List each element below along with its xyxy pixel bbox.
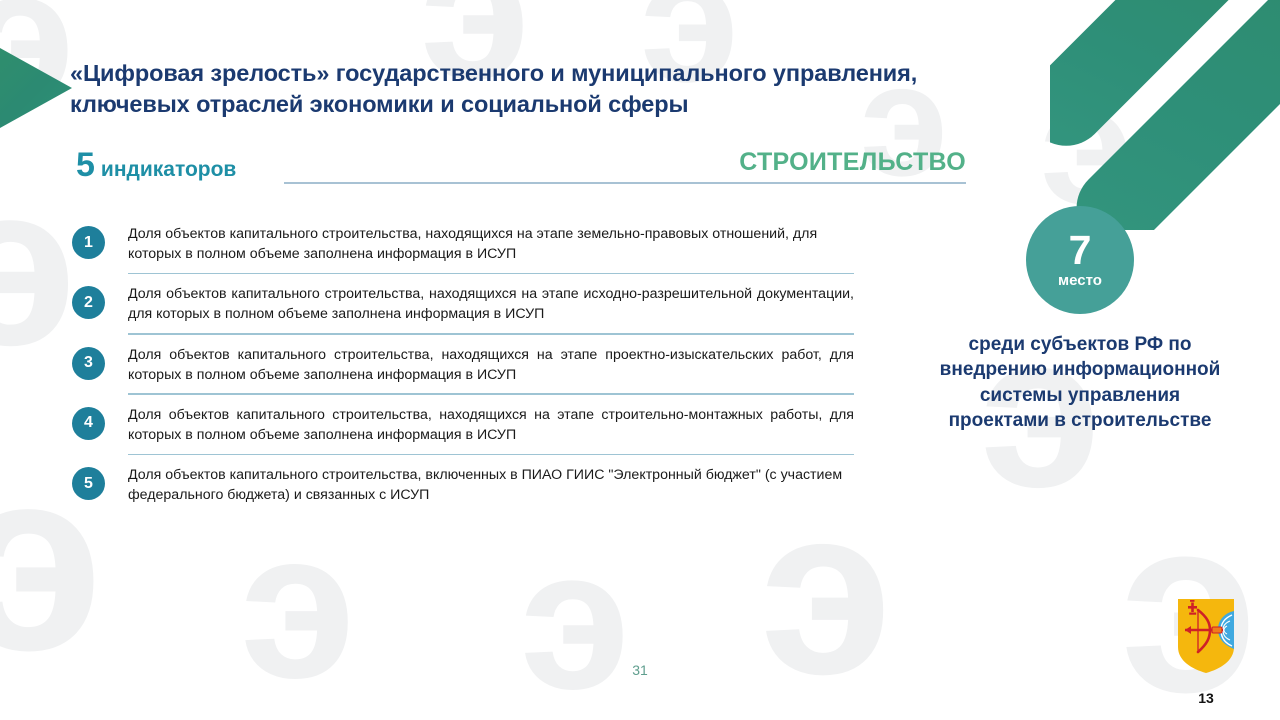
list-item: 4 Доля объектов капитального строительст… xyxy=(72,405,854,455)
indicator-badge: 4 xyxy=(72,407,105,440)
rank-caption: среди субъектов РФ по внедрению информац… xyxy=(930,332,1230,433)
indicator-text: Доля объектов капитального строительства… xyxy=(128,224,854,264)
sector-label: СТРОИТЕЛЬСТВО xyxy=(739,148,966,177)
diagonal-bars-decoration xyxy=(1050,0,1280,230)
corner-arrow-decoration xyxy=(0,48,72,128)
slide-note-number: 31 xyxy=(0,662,1280,678)
indicator-badge: 5 xyxy=(72,467,105,500)
indicator-text: Доля объектов капитального строительства… xyxy=(128,284,854,324)
list-item: 1 Доля объектов капитального строительст… xyxy=(72,224,854,274)
subheader-divider xyxy=(284,182,966,184)
indicator-badge: 3 xyxy=(72,347,105,380)
rank-panel: 7 место среди субъектов РФ по внедрению … xyxy=(930,206,1230,433)
page-title: «Цифровая зрелость» государственного и м… xyxy=(70,58,950,121)
rank-unit: место xyxy=(1058,272,1102,289)
list-item: 2 Доля объектов капитального строительст… xyxy=(72,284,854,334)
rank-value: 7 xyxy=(1069,231,1092,270)
slide-canvas: э э э э э э э э э э э э «Цифровая зрелос… xyxy=(0,0,1280,720)
watermark-glyph: э xyxy=(240,500,356,710)
indicator-badge: 1 xyxy=(72,226,105,259)
watermark-glyph: э xyxy=(0,150,77,380)
indicator-list: 1 Доля объектов капитального строительст… xyxy=(72,224,854,506)
coat-of-arms-icon xyxy=(1176,597,1236,675)
subheader-row: 5 индикаторов СТРОИТЕЛЬСТВО xyxy=(76,148,966,192)
indicator-text: Доля объектов капитального строительства… xyxy=(128,405,854,445)
indicators-count-number: 5 xyxy=(76,148,95,182)
indicator-text: Доля объектов капитального строительства… xyxy=(128,465,854,505)
rank-badge: 7 место xyxy=(1026,206,1134,314)
indicators-count-group: 5 индикаторов xyxy=(76,148,236,182)
list-item: 3 Доля объектов капитального строительст… xyxy=(72,345,854,395)
watermark-glyph: э xyxy=(520,520,630,720)
indicators-count-label: индикаторов xyxy=(101,158,236,182)
list-item: 5 Доля объектов капитального строительст… xyxy=(72,465,854,505)
page-number: 13 xyxy=(1186,690,1226,706)
indicator-text: Доля объектов капитального строительства… xyxy=(128,345,854,385)
indicator-badge: 2 xyxy=(72,286,105,319)
